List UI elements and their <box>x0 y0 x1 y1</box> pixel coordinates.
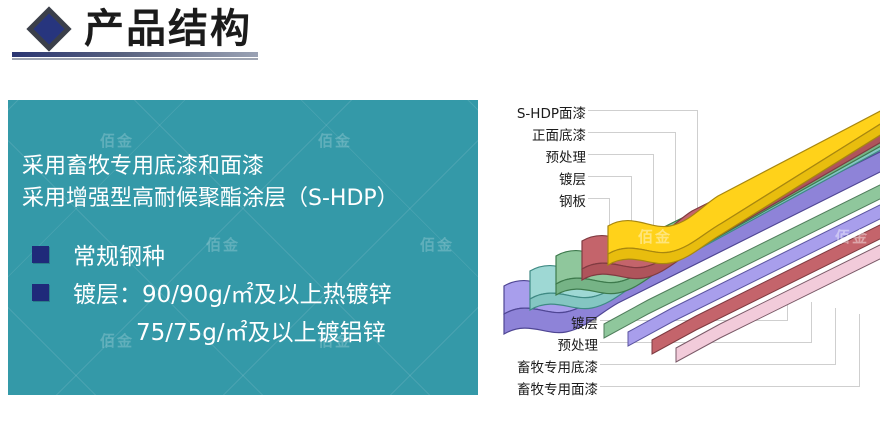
bullet-label: 镀层：90/90g/㎡及以上热镀锌 <box>73 275 392 309</box>
bullet-label: 常规钢种 <box>73 237 165 271</box>
header-divider <box>12 52 258 57</box>
diagram-label-steel-plate: 钢板 <box>490 190 586 210</box>
panel-heading-line-1: 采用畜牧专用底漆和面漆 <box>22 148 264 180</box>
layer-structure-diagram: 佰金 佰金 S-HDP面漆 正面底漆 预处理 镀层 钢板 镀层 预处理 畜牧专用… <box>490 90 880 421</box>
diagram-label-back-coating: 镀层 <box>490 312 598 332</box>
page-header: 产品结构 <box>0 0 880 70</box>
page-title: 产品结构 <box>84 6 252 52</box>
panel-heading-line-2: 采用增强型高耐候聚酯涂层（S-HDP） <box>22 180 399 212</box>
bullet-continuation-label: 75/75g/㎡及以上镀铝锌 <box>136 313 386 347</box>
diagram-label-topcoat: S-HDP面漆 <box>490 102 586 122</box>
bullet-square-icon <box>32 246 49 263</box>
product-spec-panel: 佰金 佰金 佰金 佰金 佰金 佰金 采用畜牧专用底漆和面漆 采用增强型高耐候聚酯… <box>8 100 478 395</box>
diagram-label-pretreatment: 预处理 <box>490 146 586 166</box>
bullet-item-steel-grade: 常规钢种 <box>32 237 165 271</box>
diagram-label-coating: 镀层 <box>490 168 586 188</box>
svg-text:佰金: 佰金 <box>638 228 672 246</box>
slide-root: 产品结构 佰金 佰金 佰金 佰金 佰金 佰金 采用畜牧专用底漆和面漆 采用增强型… <box>0 0 880 421</box>
svg-text:佰金: 佰金 <box>835 228 869 246</box>
diagram-label-back-topcoat: 畜牧专用面漆 <box>490 378 598 398</box>
diagram-label-front-primer: 正面底漆 <box>490 124 586 144</box>
header-divider-secondary <box>12 58 258 60</box>
diagram-label-back-pretreatment: 预处理 <box>490 334 598 354</box>
diamond-logo-icon <box>27 7 71 51</box>
diagram-label-back-primer: 畜牧专用底漆 <box>490 356 598 376</box>
bullet-item-coating: 镀层：90/90g/㎡及以上热镀锌 <box>32 275 392 309</box>
bullet-square-icon <box>32 284 49 301</box>
